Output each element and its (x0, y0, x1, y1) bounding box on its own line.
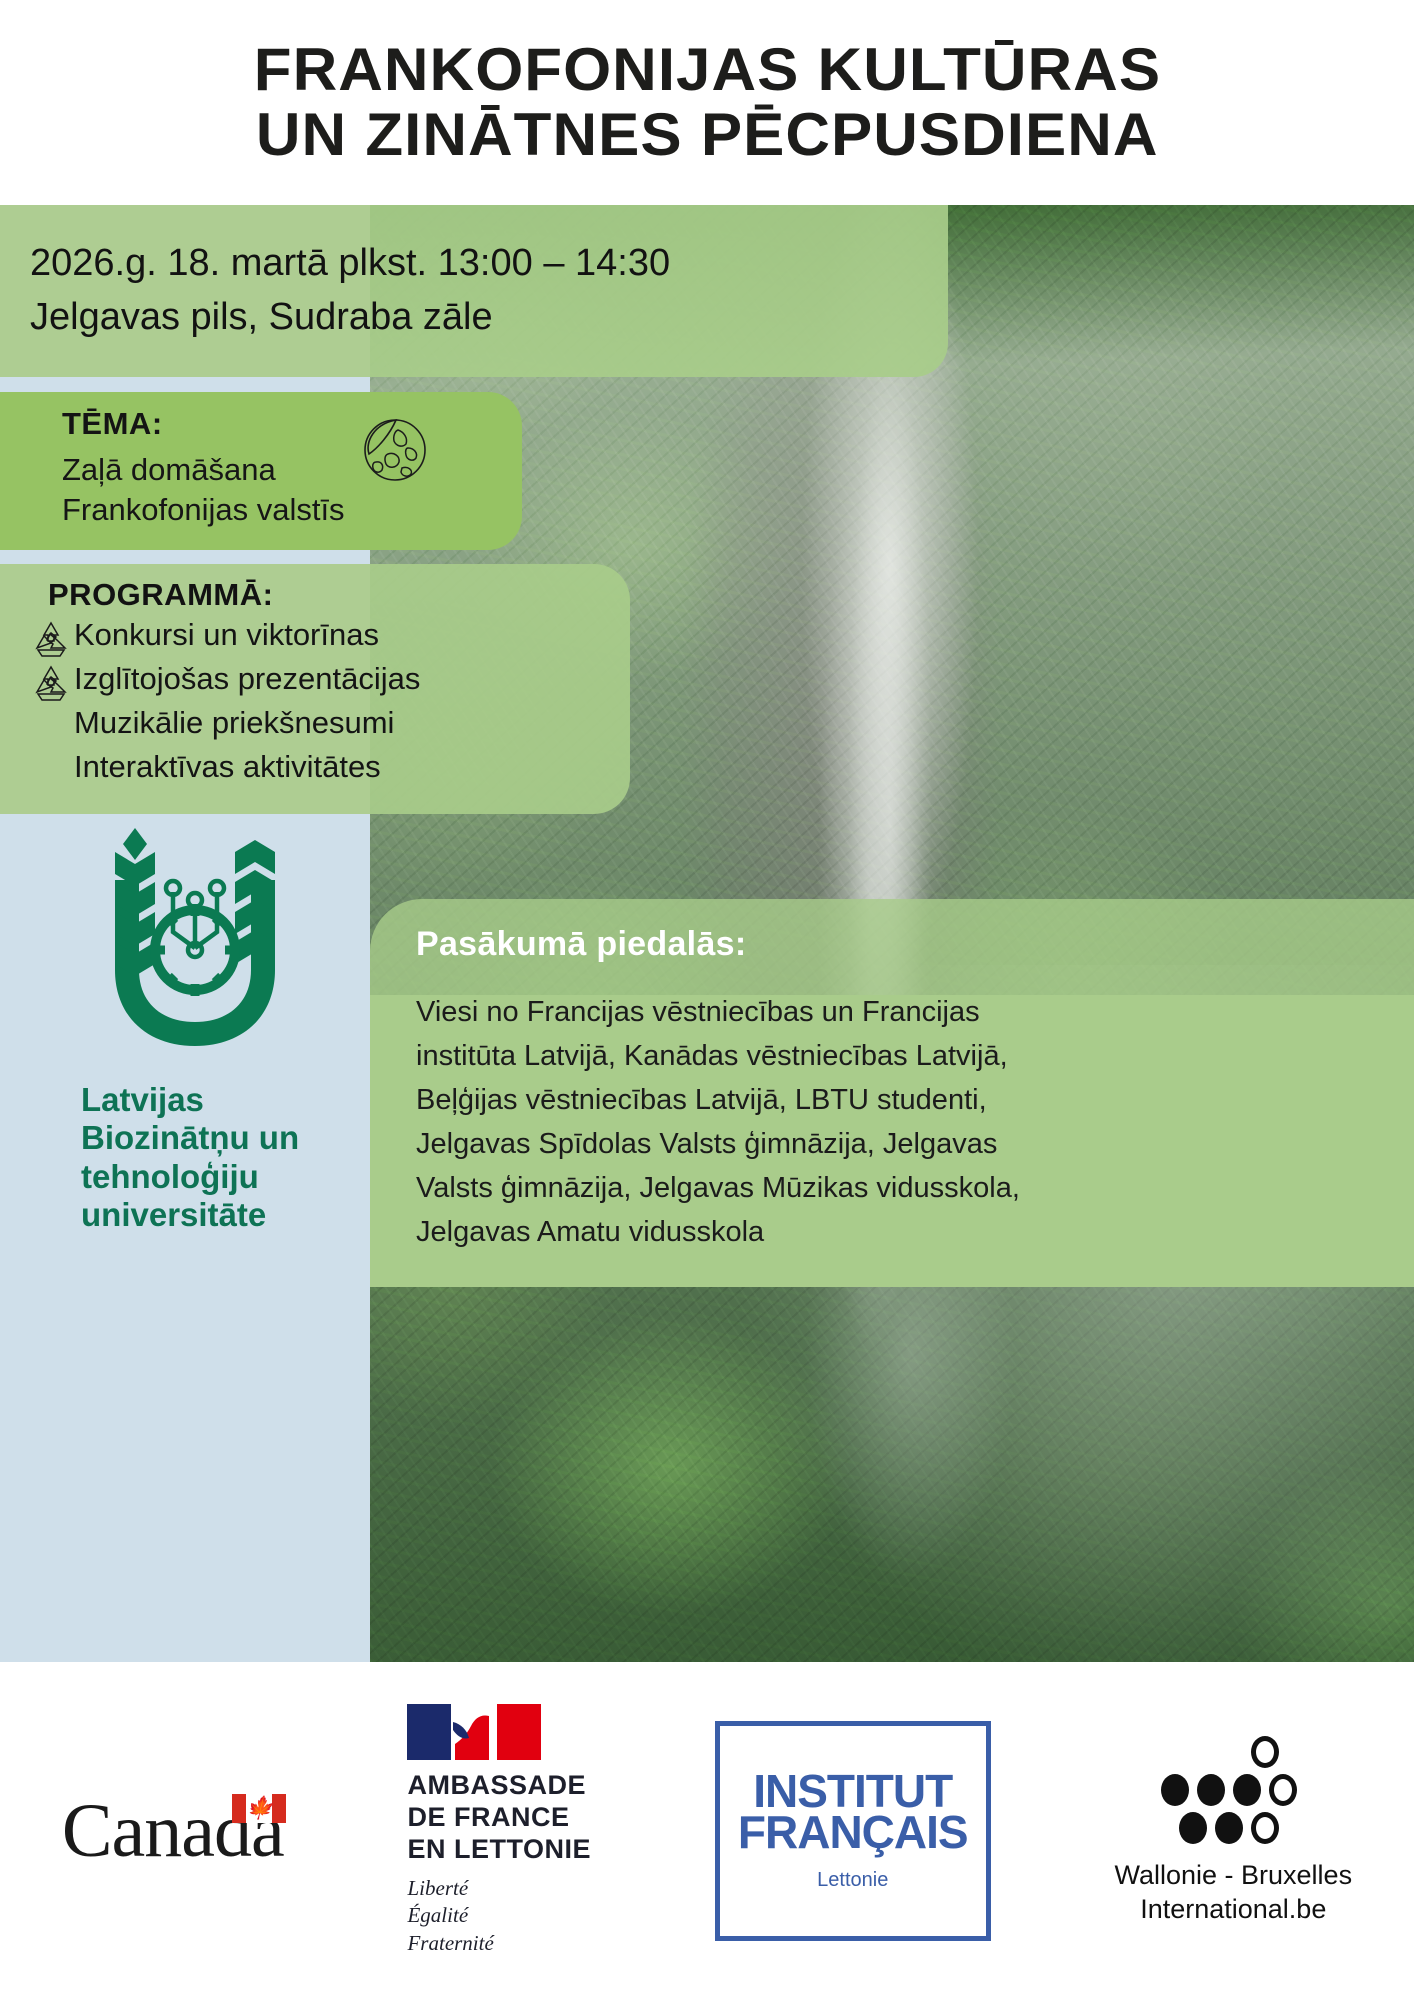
event-venue: Jelgavas pils, Sudraba zāle (30, 291, 948, 345)
university-logo-block: Latvijas Biozinātņu un tehnoloģiju unive… (55, 820, 355, 1250)
theme-line-2: Frankofonijas valstīs (62, 492, 522, 528)
marianne-profile-icon (451, 1704, 497, 1760)
participants-line: Viesi no Francijas vēstniecības un Franc… (416, 990, 1368, 1034)
participants-line: institūta Latvijā, Kanādas vēstniecības … (416, 1034, 1368, 1078)
lbtu-wheat-gear-logo (81, 820, 309, 1060)
recycle-icon (30, 618, 72, 660)
participants-box: Pasākumā piedalās: Viesi no Francijas vē… (370, 899, 1414, 1287)
participants-line: Beļģijas vēstniecības Latvijā, LBTU stud… (416, 1078, 1368, 1122)
poster-root: FRANKOFONIJAS KULTŪRAS UN ZINĀTNES PĒCPU… (0, 0, 1414, 2000)
france-motto-line-3: Fraternité (407, 1930, 493, 1958)
participants-list: Viesi no Francijas vēstniecības un Franc… (416, 990, 1368, 1254)
participants-line: Jelgavas Spīdolas Valsts ģimnāzija, Jelg… (416, 1122, 1368, 1166)
divider-strip-2 (0, 550, 370, 564)
university-name-line-4: universitāte (81, 1196, 355, 1234)
programme-box: PROGRAMMĀ: Konkursi un viktorīnas (0, 564, 630, 814)
wallonie-bruxelles-logo: Wallonie - Bruxelles International.be (1114, 1736, 1352, 1926)
university-name: Latvijas Biozinātņu un tehnoloģiju unive… (81, 1081, 355, 1234)
programme-item-label: Muzikālie priekšnesumi (74, 705, 394, 740)
participants-heading: Pasākumā piedalās: (416, 925, 1368, 964)
france-title-line-3: EN LETTONIE (407, 1834, 591, 1866)
france-title-line-1: AMBASSADE (407, 1770, 591, 1802)
university-name-line-3: tehnoloģiju (81, 1158, 355, 1196)
theme-label: TĒMA: (62, 406, 522, 442)
title-line-2: UN ZINĀTNES PĒCPUSDIENA (256, 103, 1159, 168)
programme-item-label: Izglītojošas prezentācijas (74, 661, 420, 696)
divider-strip-1 (0, 377, 370, 392)
institut-subtitle: Lettonie (817, 1869, 888, 1892)
earth-leaf-icon (356, 410, 430, 484)
sponsor-footer: Canada 🍁 AMBASSADE DE FRANCE (0, 1662, 1414, 2000)
canada-logo: Canada 🍁 (62, 1788, 284, 1875)
france-embassy-logo: AMBASSADE DE FRANCE EN LETTONIE Liberté … (407, 1704, 591, 1958)
list-item: Konkursi un viktorīnas (48, 613, 630, 657)
list-item: Izglītojošas prezentācijas (48, 657, 630, 701)
institut-francais-logo: INSTITUT FRANÇAIS Lettonie (715, 1721, 991, 1941)
event-datetime: 2026.g. 18. martā plkst. 13:00 – 14:30 (30, 237, 948, 291)
wallonie-dots-icon (1145, 1736, 1321, 1844)
list-item: Interaktīvas aktivitātes (48, 745, 630, 789)
theme-box: TĒMA: Zaļā domāšana Frankofonijas valstī… (0, 392, 522, 550)
recycle-icon (30, 662, 72, 704)
institut-line-2: FRANÇAIS (738, 1811, 968, 1853)
participants-line: Valsts ģimnāzija, Jelgavas Mūzikas vidus… (416, 1166, 1368, 1210)
programme-label: PROGRAMMĀ: (48, 577, 630, 613)
title-line-1: FRANKOFONIJAS KULTŪRAS (253, 38, 1160, 103)
france-motto-line-1: Liberté (407, 1875, 493, 1903)
programme-item-label: Konkursi un viktorīnas (74, 617, 379, 652)
university-name-line-1: Latvijas (81, 1081, 355, 1119)
programme-item-label: Interaktīvas aktivitātes (74, 749, 381, 784)
participants-line: Jelgavas Amatu vidusskola (416, 1210, 1368, 1254)
wallonie-line-2: International.be (1114, 1892, 1352, 1926)
canada-flag-icon: 🍁 (232, 1794, 286, 1823)
marianne-tricolor-icon (407, 1704, 541, 1760)
page-title: FRANKOFONIJAS KULTŪRAS UN ZINĀTNES PĒCPU… (0, 0, 1414, 205)
list-item: Muzikālie priekšnesumi (48, 701, 630, 745)
event-datetime-band: 2026.g. 18. martā plkst. 13:00 – 14:30 J… (0, 205, 948, 377)
wallonie-line-1: Wallonie - Bruxelles (1114, 1858, 1352, 1892)
programme-list: Konkursi un viktorīnas Izglītojošas prez… (48, 613, 630, 789)
canada-wordmark: Canada 🍁 (62, 1788, 284, 1875)
university-name-line-2: Biozinātņu un (81, 1119, 355, 1157)
poster-body: 2026.g. 18. martā plkst. 13:00 – 14:30 J… (0, 205, 1414, 1662)
france-motto-line-2: Égalité (407, 1902, 493, 1930)
france-title-line-2: DE FRANCE (407, 1802, 591, 1834)
theme-line-1: Zaļā domāšana (62, 452, 522, 488)
